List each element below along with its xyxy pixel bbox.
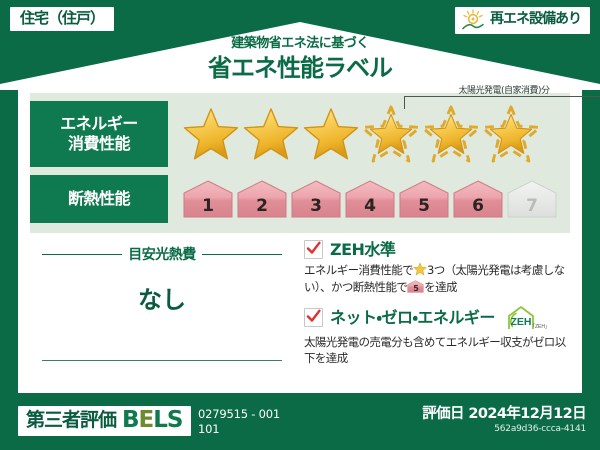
utility-cost-heading-text: 目安光熱費 xyxy=(128,244,196,264)
certificate-number-line1: 0279515 - 001 xyxy=(198,407,280,422)
insulation-performance-row: 断熱性能 1 2 xyxy=(30,175,558,223)
utility-cost-heading: 目安光熱費 xyxy=(42,244,282,264)
star-icon-filled-3 xyxy=(302,105,360,163)
star-icon-solar-6 xyxy=(482,105,540,163)
utility-cost-block: 目安光熱費 なし xyxy=(30,238,294,386)
zeh-desc-post: を達成 xyxy=(424,280,457,294)
insulation-level-3-value: 3 xyxy=(290,198,342,215)
solar-annotation-text: 太陽光発電(自家消費)分 xyxy=(404,83,600,96)
energy-star-rating xyxy=(168,105,540,163)
solar-annotation-bracket xyxy=(404,96,600,109)
certificate-number: 0279515 - 001 101 xyxy=(198,407,280,436)
insulation-performance-value: 1 2 3 4 xyxy=(168,175,558,223)
insulation-level-6: 6 xyxy=(452,179,504,219)
evaluation-date-label: 評価日 xyxy=(422,406,464,422)
insulation-badge-value: 5 xyxy=(407,285,424,293)
roof-shape xyxy=(0,22,600,90)
insulation-level-7: 7 xyxy=(506,179,558,219)
evaluation-date: 評価日 2024年12月12日 xyxy=(422,406,586,423)
energy-label-line1: エネルギー xyxy=(60,114,138,133)
star-icon-solar-5 xyxy=(422,105,480,163)
zeh-standard-description: エネルギー消費性能で3つ（太陽光発電は考慮しない）、かつ断熱性能で5を達成 xyxy=(304,262,570,295)
insulation-level-4: 4 xyxy=(344,179,396,219)
star-icon-inline xyxy=(413,262,427,276)
energy-performance-label: エネルギー 消費性能 xyxy=(30,101,168,167)
utility-cost-bottom-rule xyxy=(42,360,282,361)
energy-label-line2: 消費性能 xyxy=(68,134,130,153)
energy-performance-row: エネルギー 消費性能 太陽光発電(自家消費)分 xyxy=(30,101,540,167)
heading-rule-left xyxy=(42,254,122,255)
label-footer: 第三者評価 BELS 0279515 - 001 101 評価日 2024年12… xyxy=(0,398,600,450)
star-icon-filled-2 xyxy=(242,105,300,163)
checkbox-checked-icon xyxy=(304,240,323,259)
bels-wordmark: BELS xyxy=(122,409,182,432)
insulation-level-6-value: 6 xyxy=(452,198,504,215)
zeh-logo-icon: ZEH 「ZEH」 xyxy=(505,305,547,331)
insulation-level-scale: 1 2 3 4 xyxy=(168,179,558,219)
zeh-standard-check-row: ZEH水準 xyxy=(304,240,570,259)
svg-text:「ZEH」: 「ZEH」 xyxy=(530,324,547,330)
insulation-level-4-value: 4 xyxy=(344,198,396,215)
third-party-label: 第三者評価 xyxy=(26,411,116,430)
net-zero-energy-description: 太陽光発電の売電分も含めてエネルギー収支がゼロ以下を達成 xyxy=(304,334,570,367)
heading-rule-right xyxy=(202,254,282,255)
evaluation-date-block: 評価日 2024年12月12日 562a9d36-ccca-4141 xyxy=(422,406,586,434)
insulation-level-7-value: 7 xyxy=(506,198,558,215)
insulation-level-2-value: 2 xyxy=(236,198,288,215)
bels-badge: 第三者評価 BELS xyxy=(18,406,191,436)
star-icon-filled-1 xyxy=(182,105,240,163)
energy-label-card: 住宅（住戸） 再エネ設備あり 建築物省エネ法に基づく 省エネ性能ラベル xyxy=(0,0,600,450)
energy-performance-value: 太陽光発電(自家消費)分 xyxy=(168,101,540,167)
insulation-level-2: 2 xyxy=(236,179,288,219)
utility-cost-value: なし xyxy=(30,280,294,315)
net-zero-energy-check-row: ネット・ゼロ・エネルギー ZEH 「ZEH」 xyxy=(304,305,570,331)
label-body: エネルギー 消費性能 太陽光発電(自家消費)分 xyxy=(18,88,582,393)
certificate-number-line2: 101 xyxy=(198,422,280,437)
evaluation-hash: 562a9d36-ccca-4141 xyxy=(422,425,586,434)
performance-panel: エネルギー 消費性能 太陽光発電(自家消費)分 xyxy=(30,93,570,233)
insulation-badge-inline: 5 xyxy=(407,280,424,293)
insulation-level-5-value: 5 xyxy=(398,198,450,215)
insulation-level-1-value: 1 xyxy=(182,198,234,215)
net-zero-energy-title: ネット・ゼロ・エネルギー xyxy=(330,308,495,327)
star-icon-solar-4 xyxy=(362,105,420,163)
checkbox-checked-icon-2 xyxy=(304,308,323,327)
insulation-level-1: 1 xyxy=(182,179,234,219)
insulation-level-3: 3 xyxy=(290,179,342,219)
certification-checks: ZEH水準 エネルギー消費性能で3つ（太陽光発電は考慮しない）、かつ断熱性能で5… xyxy=(294,238,570,386)
insulation-level-5: 5 xyxy=(398,179,450,219)
svg-text:ZEH: ZEH xyxy=(510,316,531,328)
evaluation-date-value: 2024年12月12日 xyxy=(468,406,586,422)
lower-section: 目安光熱費 なし ZEH水準 エネルギー消費性能で3つ（ xyxy=(30,238,570,386)
insulation-performance-label: 断熱性能 xyxy=(30,175,168,223)
zeh-desc-pre: エネルギー消費性能で xyxy=(304,263,413,277)
zeh-standard-title: ZEH水準 xyxy=(330,240,395,259)
